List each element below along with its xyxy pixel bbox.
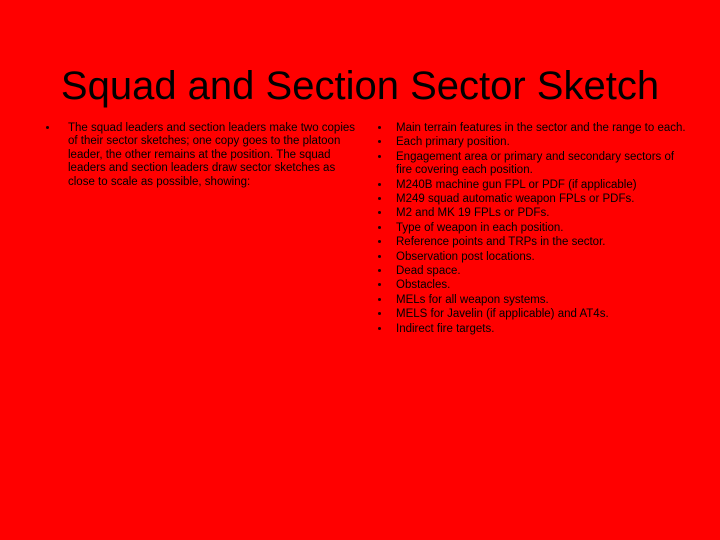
list-item: M249 squad automatic weapon FPLs or PDFs… xyxy=(372,193,686,206)
list-item: M2 and MK 19 FPLs or PDFs. xyxy=(372,207,686,220)
bullet-point-icon xyxy=(378,283,381,286)
right-bullet-list: Main terrain features in the sector and … xyxy=(372,122,686,336)
bullet-text: Observation post locations. xyxy=(396,251,686,264)
list-item: Indirect fire targets. xyxy=(372,323,686,336)
presentation-slide: Squad and Section Sector Sketch The squa… xyxy=(0,0,720,540)
bullet-point-icon xyxy=(378,226,381,229)
bullet-point-icon xyxy=(46,126,49,129)
bullet-point-icon xyxy=(378,255,381,258)
bullet-text: M2 and MK 19 FPLs or PDFs. xyxy=(396,207,686,220)
bullet-text: Main terrain features in the sector and … xyxy=(396,122,686,135)
list-item: Type of weapon in each position. xyxy=(372,222,686,235)
list-item: MELS for Javelin (if applicable) and AT4… xyxy=(372,308,686,321)
page-title: Squad and Section Sector Sketch xyxy=(36,63,684,109)
bullet-text: Indirect fire targets. xyxy=(396,323,686,336)
list-item: MELs for all weapon systems. xyxy=(372,294,686,307)
bullet-text: M249 squad automatic weapon FPLs or PDFs… xyxy=(396,193,686,206)
list-item: Dead space. xyxy=(372,265,686,278)
list-item: Each primary position. xyxy=(372,136,686,149)
bullet-point-icon xyxy=(378,197,381,200)
bullet-text: M240B machine gun FPL or PDF (if applica… xyxy=(396,179,686,192)
list-item: Reference points and TRPs in the sector. xyxy=(372,236,686,249)
bullet-point-icon xyxy=(378,140,381,143)
list-item: M240B machine gun FPL or PDF (if applica… xyxy=(372,179,686,192)
left-bullet-list: The squad leaders and section leaders ma… xyxy=(32,122,356,189)
bullet-point-icon xyxy=(378,240,381,243)
bullet-text: Engagement area or primary and secondary… xyxy=(396,151,686,178)
bullet-point-icon xyxy=(378,269,381,272)
slide-body: The squad leaders and section leaders ma… xyxy=(0,122,720,422)
bullet-text: Obstacles. xyxy=(396,279,686,292)
bullet-text: Dead space. xyxy=(396,265,686,278)
list-item: Main terrain features in the sector and … xyxy=(372,122,686,135)
bullet-point-icon xyxy=(378,327,381,330)
bullet-text: MELs for all weapon systems. xyxy=(396,294,686,307)
list-item: The squad leaders and section leaders ma… xyxy=(32,122,356,189)
list-item: Engagement area or primary and secondary… xyxy=(372,151,686,178)
bullet-point-icon xyxy=(378,155,381,158)
bullet-point-icon xyxy=(378,298,381,301)
bullet-text: MELS for Javelin (if applicable) and AT4… xyxy=(396,308,686,321)
bullet-point-icon xyxy=(378,126,381,129)
list-item: Obstacles. xyxy=(372,279,686,292)
bullet-text: Reference points and TRPs in the sector. xyxy=(396,236,686,249)
bullet-text: Type of weapon in each position. xyxy=(396,222,686,235)
bullet-point-icon xyxy=(378,211,381,214)
right-content-column: Main terrain features in the sector and … xyxy=(372,122,686,336)
list-item: Observation post locations. xyxy=(372,251,686,264)
bullet-point-icon xyxy=(378,312,381,315)
left-content-column: The squad leaders and section leaders ma… xyxy=(32,122,356,189)
bullet-text: Each primary position. xyxy=(396,136,686,149)
bullet-text: The squad leaders and section leaders ma… xyxy=(68,122,356,189)
bullet-point-icon xyxy=(378,183,381,186)
